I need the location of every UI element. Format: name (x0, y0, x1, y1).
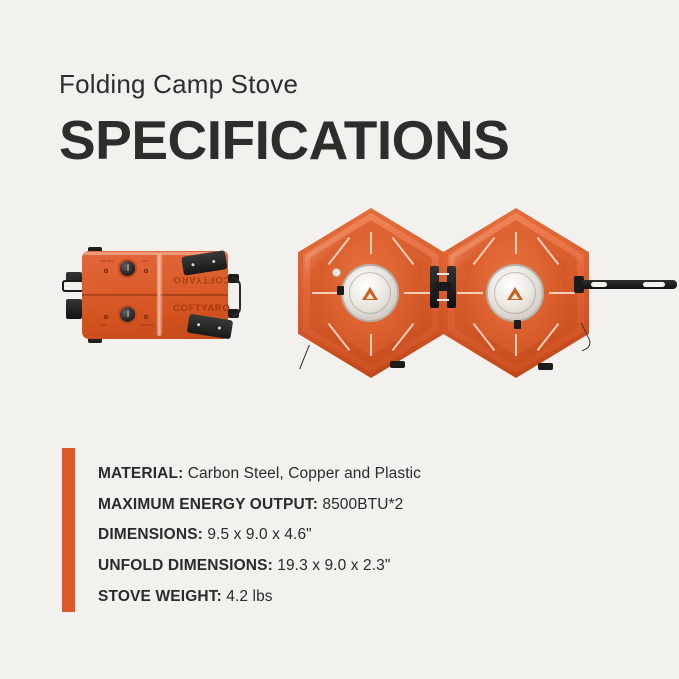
igniter-button (332, 268, 341, 277)
spec-label: MATERIAL: (98, 465, 183, 482)
hex-foot-left (390, 361, 405, 368)
product-image-stage: MIN MAX OFF OFF MIN MAX COFTYARO COFTYAR… (0, 190, 679, 400)
spec-row-material: MATERIAL: Carbon Steel, Copper and Plast… (98, 459, 421, 490)
product-photo-unfolded-stove (288, 196, 679, 394)
knob-micro-label-c: OFF (100, 323, 106, 327)
header: Folding Camp Stove SPECIFICATIONS (59, 70, 509, 168)
product-photo-folded-stove: MIN MAX OFF OFF MIN MAX COFTYARO COFTYAR… (60, 247, 250, 343)
burner-gas-nub (337, 286, 344, 295)
burner-head-left (341, 264, 399, 322)
spec-label: DIMENSIONS: (98, 526, 203, 543)
brand-text-mirrored: COFTYARO (173, 274, 230, 285)
spec-label: MAXIMUM ENERGY OUTPUT: (98, 496, 318, 513)
accent-bar (62, 448, 75, 612)
folded-endcap-bottom (66, 299, 82, 319)
product-subtitle: Folding Camp Stove (59, 70, 509, 99)
spec-value: 8500BTU*2 (322, 496, 403, 513)
hinge-pin-lower (437, 299, 449, 301)
hinge-rivet (191, 263, 194, 266)
knob-indicator-a (104, 269, 108, 273)
folded-center-seam (82, 294, 228, 296)
spec-row-dimensions: DIMENSIONS: 9.5 x 9.0 x 4.6" (98, 520, 421, 551)
control-knob-upper (118, 259, 137, 278)
latch-wire-loop (232, 277, 241, 317)
control-knob-lower (118, 305, 137, 324)
hinge-rivet (218, 326, 221, 329)
spec-row-unfold-dimensions: UNFOLD DIMENSIONS: 19.3 x 9.0 x 2.3" (98, 551, 421, 582)
hex-burner-left (298, 208, 444, 378)
spec-row-stove-weight: STOVE WEIGHT: 4.2 lbs (98, 582, 421, 613)
flame-triangle-logo (362, 287, 378, 300)
knob-micro-label-b: OFF (142, 259, 148, 263)
flame-triangle-logo (507, 287, 523, 300)
hinge-rivet (197, 323, 200, 326)
hinge-pin-upper (437, 273, 449, 275)
specifications-block: MATERIAL: Carbon Steel, Copper and Plast… (62, 448, 421, 612)
spec-label: UNFOLD DIMENSIONS: (98, 557, 273, 574)
page-title: SPECIFICATIONS (59, 113, 509, 168)
spec-value: 4.2 lbs (226, 588, 272, 605)
arm-slot-outer (643, 282, 665, 287)
knob-indicator-c (104, 315, 108, 319)
knob-micro-label-d: MIN MAX (141, 323, 154, 327)
spec-list: MATERIAL: Carbon Steel, Copper and Plast… (98, 448, 421, 612)
spec-row-energy-output: MAXIMUM ENERGY OUTPUT: 8500BTU*2 (98, 490, 421, 521)
center-hinge-bracket (430, 266, 456, 308)
spec-value: Carbon Steel, Copper and Plastic (188, 465, 421, 482)
brand-text: COFTYARO (173, 303, 230, 314)
hex-burner-right (443, 208, 589, 378)
knob-indicator-d (144, 315, 148, 319)
spec-value: 19.3 x 9.0 x 2.3" (277, 557, 390, 574)
knob-indicator-b (144, 269, 148, 273)
hinge-rivet (212, 260, 215, 263)
hinge-crossbar (435, 282, 451, 291)
hex-foot-right (538, 363, 553, 370)
knob-micro-label-a: MIN MAX (101, 259, 114, 263)
burner-head-right (486, 264, 544, 322)
extension-arm (581, 280, 677, 289)
folded-gloss-highlight (156, 254, 163, 336)
spec-value: 9.5 x 9.0 x 4.6" (207, 526, 311, 543)
folded-handle-slot (62, 280, 84, 292)
burner-gas-nub (514, 320, 521, 329)
spec-label: STOVE WEIGHT: (98, 588, 222, 605)
arm-slot-inner (591, 282, 607, 287)
